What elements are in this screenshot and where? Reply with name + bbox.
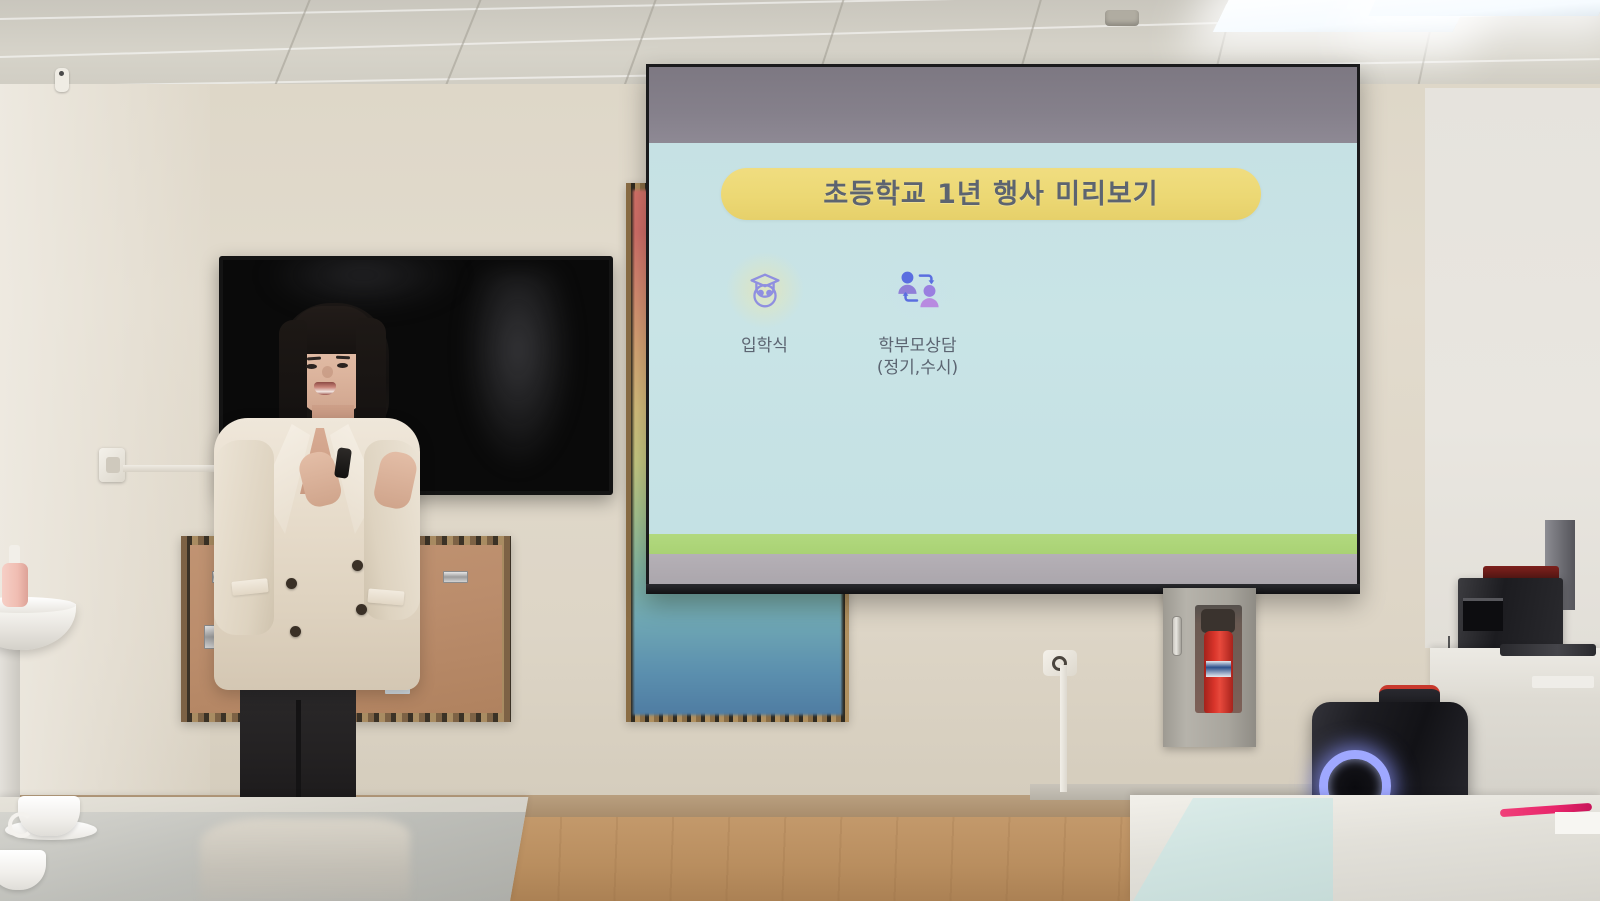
ceiling-grid-line <box>438 0 485 96</box>
table-reflection <box>200 818 410 901</box>
soap-dispenser[interactable] <box>2 563 28 607</box>
cable-raceway <box>123 465 223 472</box>
graduate-student-icon <box>726 251 804 329</box>
extinguisher-head <box>1201 609 1235 633</box>
counter-equipment <box>1500 644 1596 656</box>
cabinet-handle[interactable] <box>1172 616 1182 656</box>
slide-bottom-band <box>649 554 1357 584</box>
slide-item-parent-counseling: 학부모상담 (정기,수시) <box>860 251 975 379</box>
slide-item-label: 학부모상담 (정기,수시) <box>877 335 958 379</box>
fire-extinguisher-cabinet[interactable] <box>1163 588 1256 747</box>
blazer-button <box>286 578 297 589</box>
presenter-arm <box>214 440 274 635</box>
cup-handle <box>8 812 34 838</box>
cabinet-window <box>1195 605 1242 713</box>
two-people-exchange-icon <box>879 251 957 329</box>
screen-unprojected-area <box>649 67 1357 143</box>
presenter-hair-side <box>279 320 307 430</box>
extinguisher-label <box>1206 661 1231 677</box>
soap-pump[interactable] <box>9 545 20 565</box>
sink-pedestal <box>0 645 20 810</box>
presenter-eye <box>306 364 317 369</box>
classroom-presentation-photo: 초등학교 1년 행사 미리보기 입학식 <box>0 0 1600 901</box>
presenter-nose <box>322 366 333 378</box>
slide-title-banner: 초등학교 1년 행사 미리보기 <box>721 168 1261 220</box>
fire-extinguisher <box>1204 631 1233 713</box>
presenter-hair-side <box>356 318 386 430</box>
ceiling-sprinkler <box>1105 10 1139 26</box>
blazer-pocket <box>367 588 404 605</box>
ceiling-panel-light <box>1368 0 1600 16</box>
slide-item-list: 입학식 <box>707 251 975 379</box>
slide-title: 초등학교 1년 행사 미리보기 <box>823 181 1158 208</box>
presenter-eye <box>337 363 348 368</box>
screen-pull-pole[interactable] <box>1060 665 1067 792</box>
blazer-button <box>290 626 301 637</box>
slide-item-entrance-ceremony: 입학식 <box>707 251 822 379</box>
screen-glare <box>463 270 573 470</box>
paper-sheet[interactable] <box>1555 812 1600 834</box>
printer-paper-slot <box>1463 598 1503 631</box>
wall-sensor <box>55 68 69 92</box>
screen-glare <box>263 256 463 310</box>
slide-item-label: 입학식 <box>741 335 788 357</box>
slide-accent-band <box>649 534 1357 554</box>
wall-outlet-box[interactable] <box>99 448 125 482</box>
counter-paper <box>1532 676 1594 688</box>
blazer-button <box>352 560 363 571</box>
projector-screen: 초등학교 1년 행사 미리보기 입학식 <box>646 64 1360 594</box>
presentation-slide: 초등학교 1년 행사 미리보기 입학식 <box>649 143 1357 584</box>
blazer-button <box>356 604 367 615</box>
board-clip <box>443 571 468 583</box>
